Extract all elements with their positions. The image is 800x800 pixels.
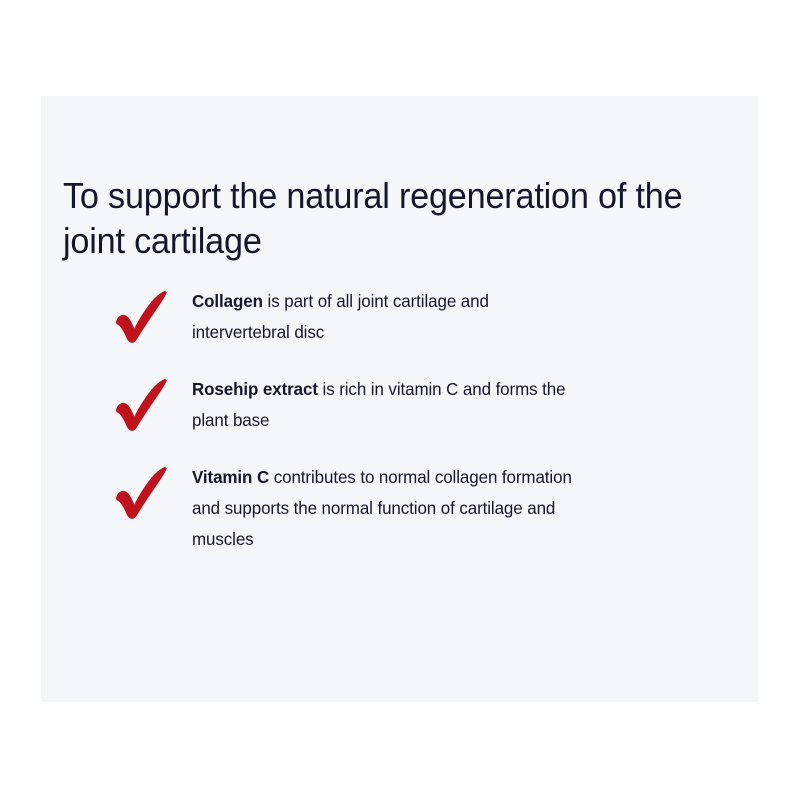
list-item-lead: Vitamin C xyxy=(192,467,269,487)
list-item: Vitamin C contributes to normal collagen… xyxy=(104,462,724,555)
list-item-text: Rosehip extract is rich in vitamin C and… xyxy=(192,374,580,436)
list-item: Collagen is part of all joint cartilage … xyxy=(104,286,724,348)
list-item-lead: Rosehip extract xyxy=(192,379,318,399)
list-item-lead: Collagen xyxy=(192,291,263,311)
benefits-list: Collagen is part of all joint cartilage … xyxy=(104,286,724,555)
checkmark-icon-wrap xyxy=(104,462,192,522)
list-item-text: Collagen is part of all joint cartilage … xyxy=(192,286,580,348)
red-checkmark-icon xyxy=(110,464,172,522)
checkmark-icon-wrap xyxy=(104,286,192,346)
red-checkmark-icon xyxy=(110,288,172,346)
promo-card: To support the natural regeneration of t… xyxy=(0,0,800,800)
content-panel: To support the natural regeneration of t… xyxy=(41,96,758,702)
list-item-text: Vitamin C contributes to normal collagen… xyxy=(192,462,580,555)
checkmark-icon-wrap xyxy=(104,374,192,434)
page-title: To support the natural regeneration of t… xyxy=(63,173,719,263)
list-item: Rosehip extract is rich in vitamin C and… xyxy=(104,374,724,436)
red-checkmark-icon xyxy=(110,376,172,434)
